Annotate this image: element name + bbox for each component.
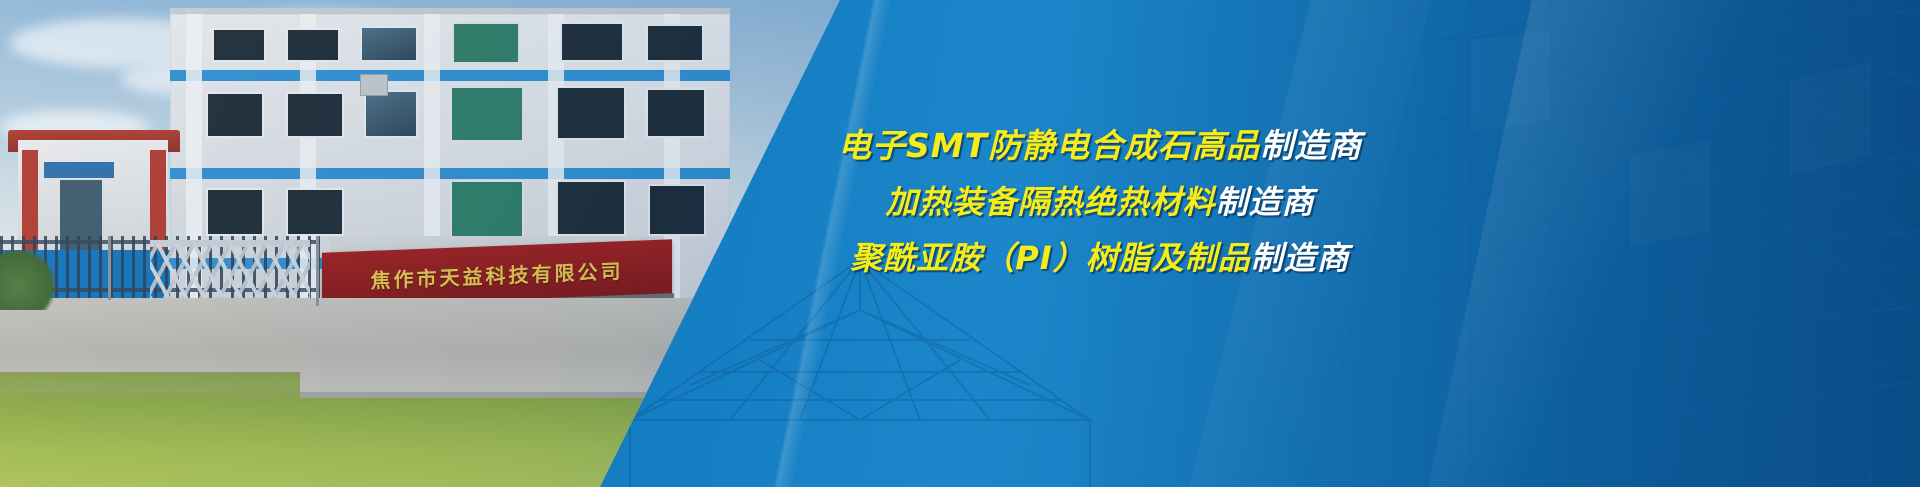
window — [364, 90, 418, 138]
window — [450, 86, 524, 142]
fence-post — [316, 236, 319, 306]
window — [286, 188, 344, 236]
window — [206, 188, 264, 236]
building-blue-band — [170, 70, 730, 81]
window — [556, 86, 626, 140]
headline-group: 电子SMT防静电合成石高品制造商 加热装备隔热绝热材料制造商 聚酰亚胺（PI）树… — [690, 118, 1510, 286]
hero-banner: 焦作市天益科技有限公司 电子SMT防静电合成石高品制造商 加热装备隔热绝热材料制… — [0, 0, 1920, 487]
window — [452, 22, 520, 64]
window — [286, 28, 340, 62]
window — [212, 28, 266, 62]
window — [560, 22, 624, 62]
window — [206, 92, 264, 138]
headline-1-white: 制造商 — [1260, 126, 1362, 165]
fence-post — [108, 236, 111, 300]
headline-line-2: 加热装备隔热绝热材料制造商 — [690, 174, 1510, 230]
tree — [0, 250, 60, 310]
window — [286, 92, 344, 138]
gatehouse-plate — [44, 162, 114, 178]
company-sign-text: 焦作市天益科技有限公司 — [322, 253, 672, 295]
gatehouse-pillar — [150, 150, 166, 250]
headline-line-3: 聚酰亚胺（PI）树脂及制品制造商 — [690, 230, 1510, 286]
gatehouse-pillar — [22, 150, 38, 250]
headline-3-white: 制造商 — [1251, 239, 1350, 277]
headline-1-yellow: 电子SMT防静电合成石高品 — [838, 126, 1260, 165]
window — [556, 180, 626, 236]
air-conditioner-unit — [360, 74, 388, 96]
building-blue-band — [170, 168, 730, 179]
window — [360, 26, 418, 62]
retractable-gate — [150, 244, 310, 302]
headline-2-white: 制造商 — [1216, 183, 1315, 221]
window — [646, 24, 704, 62]
headline-2-yellow: 加热装备隔热绝热材料 — [885, 183, 1215, 221]
headline-3-yellow: 聚酰亚胺（PI）树脂及制品 — [850, 239, 1250, 277]
window — [450, 180, 524, 238]
headline-line-1: 电子SMT防静电合成石高品制造商 — [690, 118, 1510, 174]
